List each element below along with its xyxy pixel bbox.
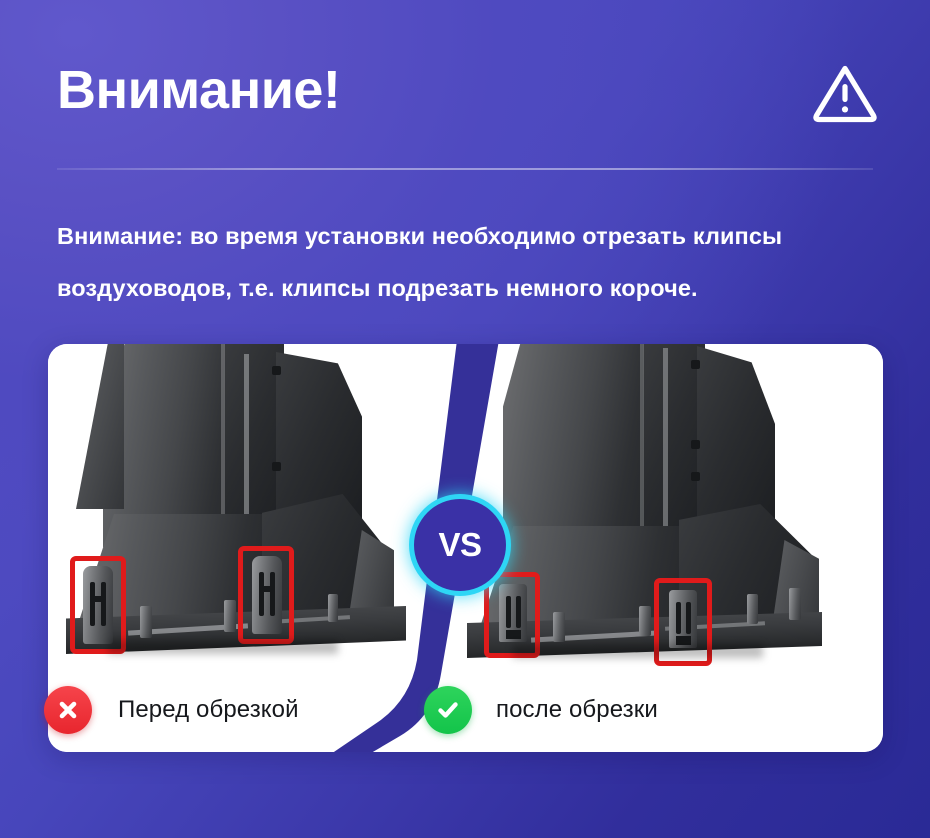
check-circle-icon	[424, 686, 472, 734]
warning-triangle-icon	[812, 62, 878, 124]
page-title: Внимание!	[57, 57, 340, 123]
label-after-cut: после обрезки	[424, 680, 658, 740]
cross-circle-icon	[44, 686, 92, 734]
vs-label: VS	[438, 526, 481, 564]
header: Внимание!	[0, 0, 930, 170]
warning-message-line-2: воздуховодов, т.е. клипсы подрезать немн…	[57, 262, 887, 314]
vs-badge: VS	[414, 499, 506, 591]
highlight-box-right	[238, 546, 294, 644]
label-after-cut-text: после обрезки	[496, 696, 658, 724]
warning-message-line-1: Внимание: во время установки необходимо …	[57, 210, 887, 262]
label-before-cut-text: Перед обрезкой	[118, 696, 299, 724]
label-before-cut: Перед обрезкой	[44, 680, 299, 740]
header-divider	[57, 168, 873, 170]
photo-before-cut	[48, 344, 478, 684]
photo-after-cut	[453, 344, 883, 684]
warning-message: Внимание: во время установки необходимо …	[57, 210, 887, 314]
